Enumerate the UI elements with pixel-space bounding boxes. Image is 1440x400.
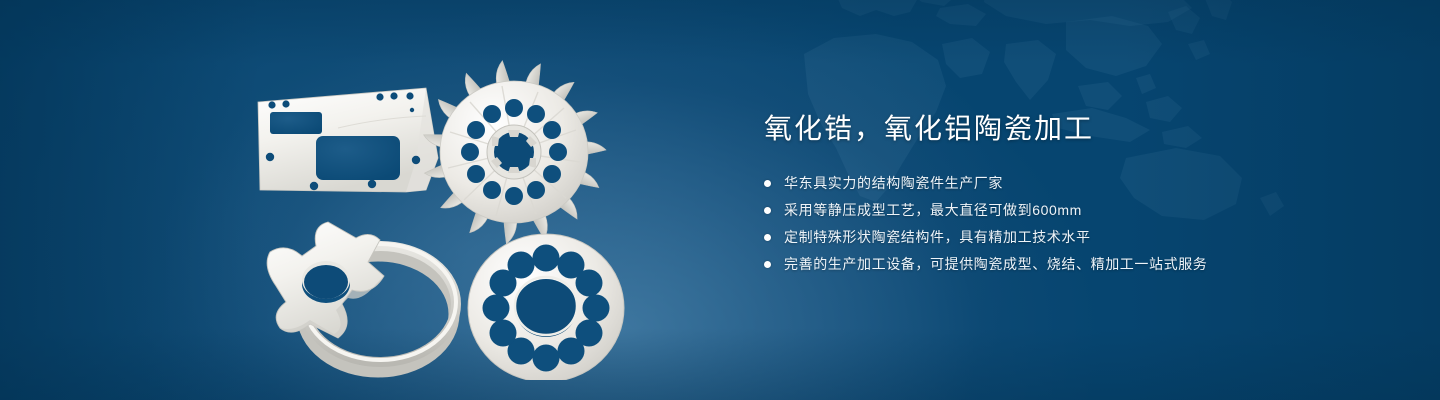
list-item: 完善的生产加工设备，可提供陶瓷成型、烧结、精加工一站式服务 (764, 255, 1384, 273)
list-item-label: 华东具实力的结构陶瓷件生产厂家 (784, 174, 1003, 192)
product-photo (230, 40, 710, 380)
banner-copy: 氧化锆，氧化铝陶瓷加工 华东具实力的结构陶瓷件生产厂家 采用等静压成型工艺，最大… (764, 112, 1384, 273)
ceramic-cross-plate-part (267, 222, 384, 338)
ceramic-impeller-part (422, 60, 606, 245)
list-item-label: 定制特殊形状陶瓷结构件，具有精加工技术水平 (784, 228, 1091, 246)
bullet-dot-icon (764, 234, 771, 241)
list-item-label: 完善的生产加工设备，可提供陶瓷成型、烧结、精加工一站式服务 (784, 255, 1207, 273)
ceramic-plate-part (258, 88, 438, 192)
ceramic-perforated-disc-part (468, 234, 624, 380)
list-item-label: 采用等静压成型工艺，最大直径可做到600mm (784, 201, 1082, 219)
bullet-dot-icon (764, 180, 771, 187)
list-item: 定制特殊形状陶瓷结构件，具有精加工技术水平 (764, 228, 1384, 246)
list-item: 华东具实力的结构陶瓷件生产厂家 (764, 174, 1384, 192)
feature-list: 华东具实力的结构陶瓷件生产厂家 采用等静压成型工艺，最大直径可做到600mm 定… (764, 174, 1384, 273)
bullet-dot-icon (764, 207, 771, 214)
promo-banner: 氧化锆，氧化铝陶瓷加工 华东具实力的结构陶瓷件生产厂家 采用等静压成型工艺，最大… (0, 0, 1440, 400)
bullet-dot-icon (764, 261, 771, 268)
page-title: 氧化锆，氧化铝陶瓷加工 (764, 112, 1384, 146)
list-item: 采用等静压成型工艺，最大直径可做到600mm (764, 201, 1384, 219)
